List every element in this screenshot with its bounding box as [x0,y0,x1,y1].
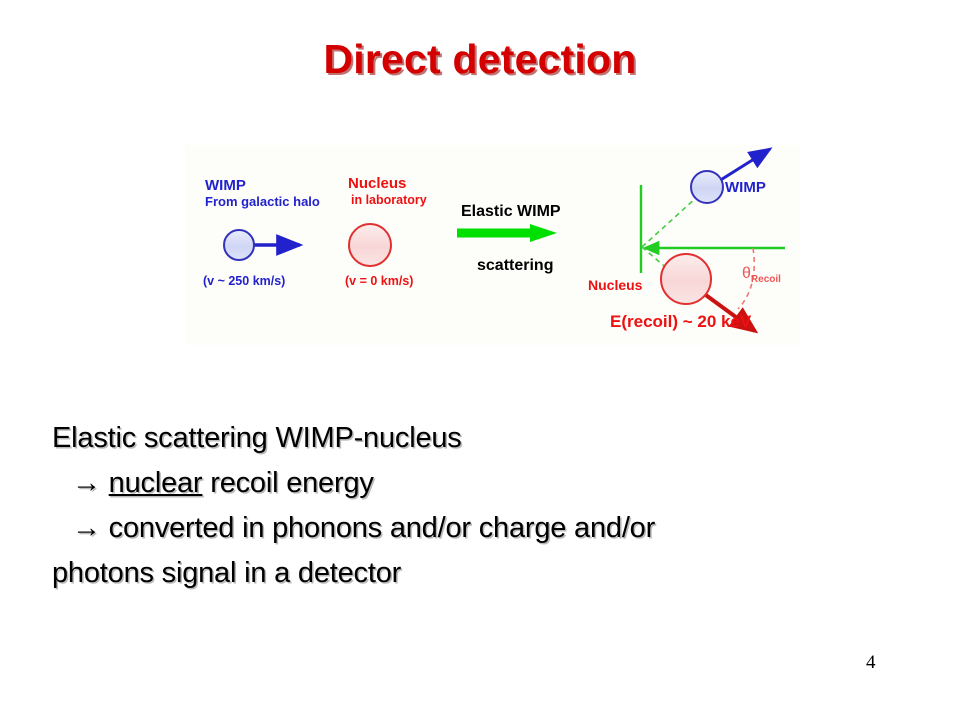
wimp-velocity-label: (v ~ 250 km/s) [203,275,285,288]
theta-subscript: Recoil [751,274,781,285]
nucleus-particle-right [660,253,712,305]
process-arrow-label-line2: scattering [477,258,553,275]
body-line-3: → converted in phonons and/or charge and… [52,506,932,551]
wimp-label-left: WIMP [205,178,246,194]
body-line-2-rest: recoil energy [202,467,373,499]
wimp-sublabel-left: From galactic halo [205,195,320,209]
wimp-particle-right [690,170,724,204]
wimp-outgoing-arrow [719,149,770,181]
slide-body-text: Elastic scattering WIMP-nucleus → nuclea… [52,416,932,596]
nucleus-label-mid: Nucleus [348,176,406,192]
theta-recoil-label: θRecoil [742,266,781,286]
process-arrow-label-line1: Elastic WIMP [461,204,561,221]
body-line-4: photons signal in a detector [52,551,932,596]
page-title: Direct detection [0,36,960,83]
wimp-label-right: WIMP [725,180,766,196]
nucleus-velocity-label: (v = 0 km/s) [345,275,413,288]
page-number: 4 [866,652,876,674]
elastic-scattering-arrow [457,224,557,242]
nucleus-label-right: Nucleus [588,278,642,293]
nucleus-particle-mid [348,223,392,267]
nucleus-sublabel-mid: in laboratory [351,194,427,207]
body-line-1: Elastic scattering WIMP-nucleus [52,416,932,461]
recoil-energy-label: E(recoil) ~ 20 keV [610,313,751,331]
wimp-particle-left [223,229,255,261]
body-line-2-underlined: nuclear [109,467,203,499]
theta-symbol: θ [742,265,751,282]
body-line-2: → nuclear recoil energy [52,461,932,506]
body-line-2-arrow: → [72,467,109,499]
scattering-diagram: WIMP From galactic halo (v ~ 250 km/s) N… [185,145,800,345]
